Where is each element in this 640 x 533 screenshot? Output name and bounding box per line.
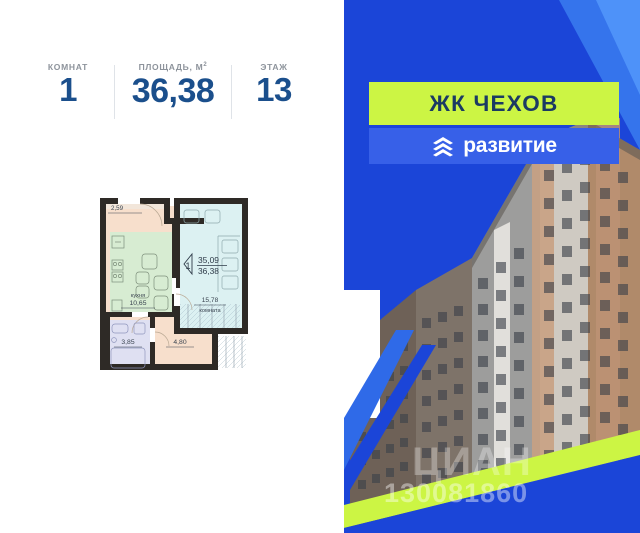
complex-name-banner: ЖК ЧЕХОВ [369,82,619,125]
balcony-area: 2,59 [111,205,124,212]
floorplan-svg: 2,59 кухня 10,65 15,78 комната 3, [88,192,264,380]
room-name: комната [199,308,221,314]
stat-area-label: ПЛОЩАДЬ, м2 [139,62,208,72]
stat-area: ПЛОЩАДЬ, м2 36,38 [115,62,231,110]
room-area: 15,78 [202,297,219,304]
stat-floor: ЭТАЖ 13 [232,62,316,109]
stat-floor-value: 13 [256,72,292,109]
developer-logo: ЖК ЧЕХОВ развитие [369,82,619,164]
complex-name: ЖК ЧЕХОВ [430,91,559,117]
kitchen-name: кухня [131,293,145,299]
bathroom-area: 3,85 [121,339,134,346]
promo-panel: ЖК ЧЕХОВ развитие ЦИАН 130081860 [344,0,640,533]
stat-rooms-value: 1 [59,72,77,109]
floorplan-panel: КОМНАТ 1 ПЛОЩАДЬ, м2 36,38 ЭТАЖ 13 [0,0,344,533]
summary-rooms: 1 [185,261,190,271]
listing-card: КОМНАТ 1 ПЛОЩАДЬ, м2 36,38 ЭТАЖ 13 [0,0,640,533]
stat-rooms: КОМНАТ 1 [22,62,114,109]
promo-background [344,0,640,533]
developer-banner: развитие [369,128,619,164]
developer-name: развитие [463,134,557,158]
chevron-up-stack-icon [431,135,455,157]
summary-total-area: 36,38 [198,266,219,276]
stat-area-value: 36,38 [132,72,215,110]
kitchen-area: 10,65 [129,300,146,307]
hall-area: 4,80 [173,339,186,346]
summary-living-area: 35,09 [198,255,219,265]
floorplan-drawing: 2,59 кухня 10,65 15,78 комната 3, [88,192,264,380]
apartment-stats: КОМНАТ 1 ПЛОЩАДЬ, м2 36,38 ЭТАЖ 13 [22,62,322,124]
